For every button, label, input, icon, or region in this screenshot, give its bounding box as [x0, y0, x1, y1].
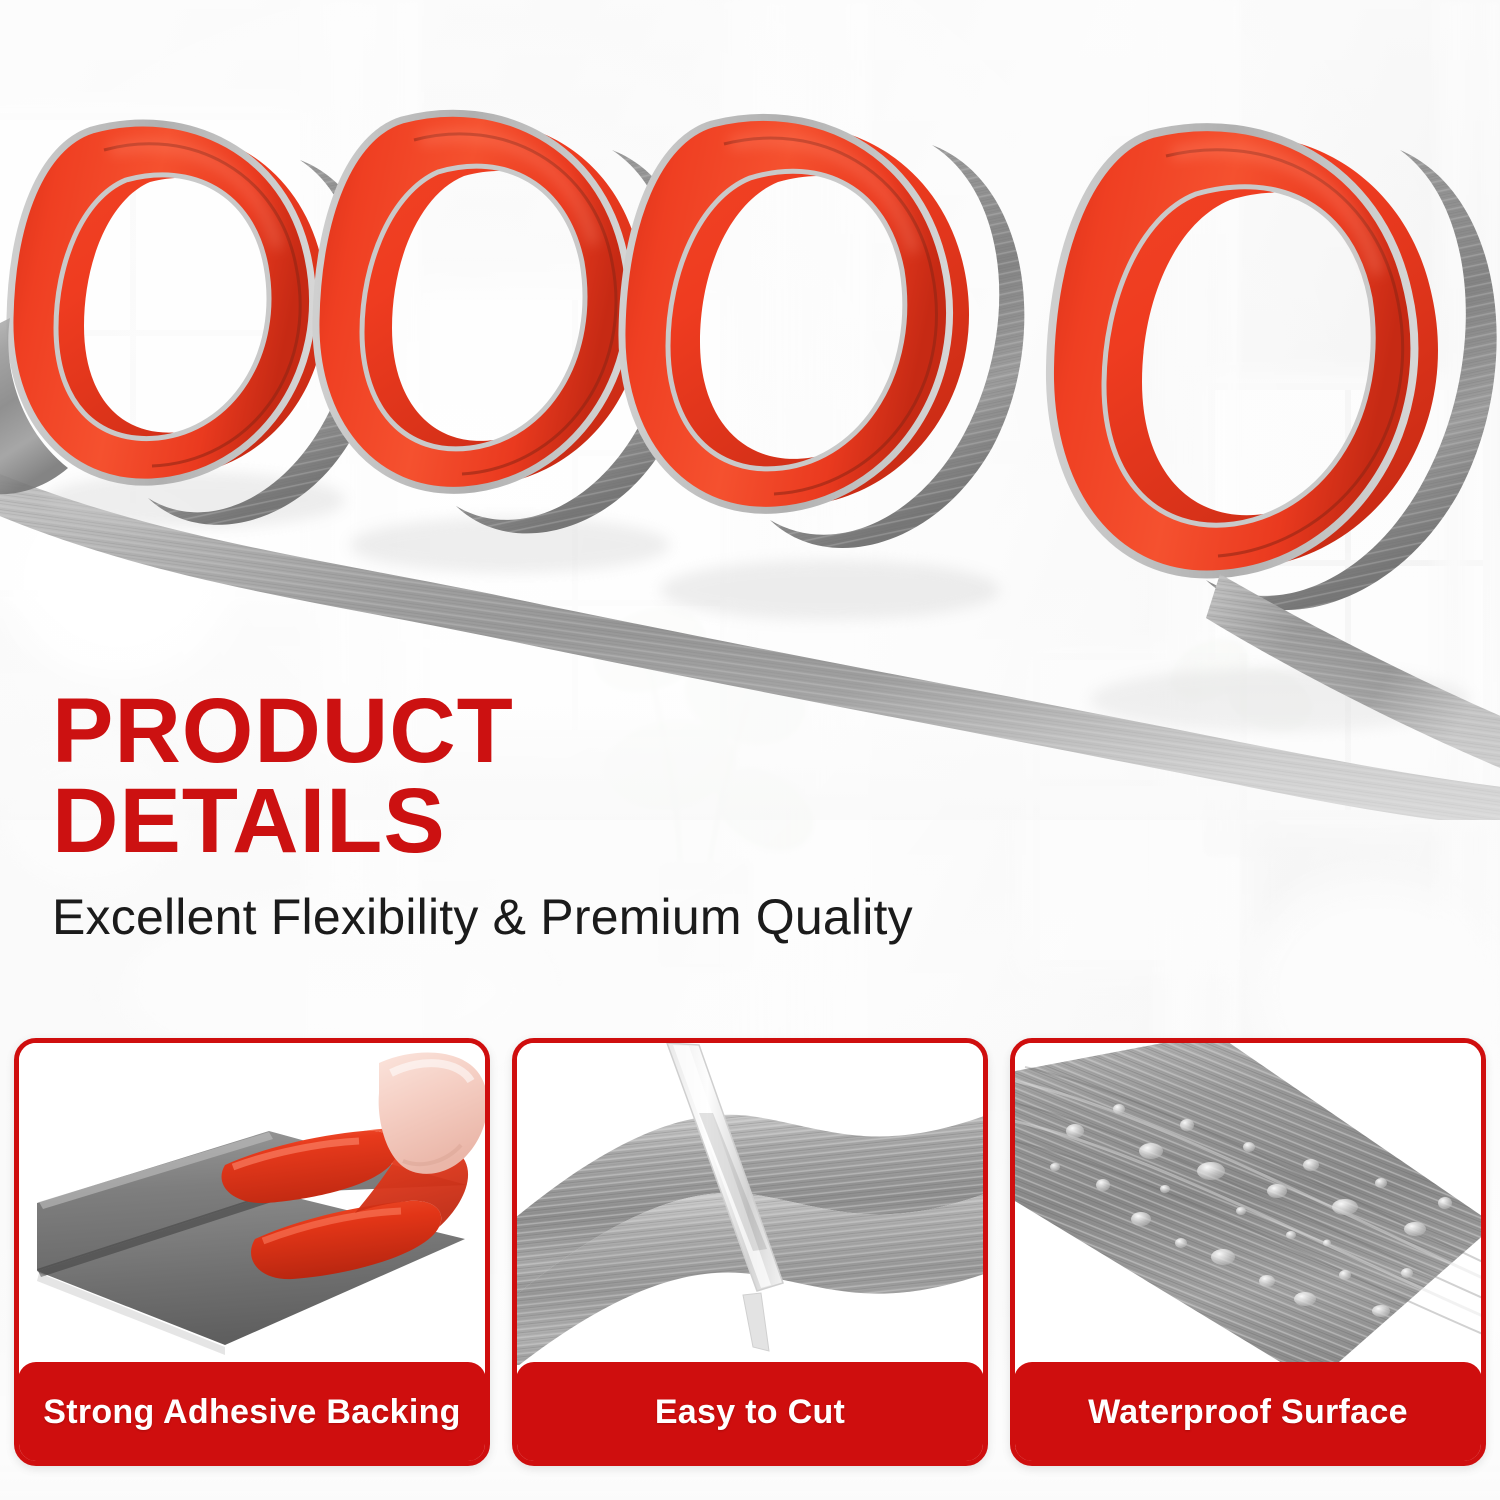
caption-bar-waterproof-surface: Waterproof Surface — [1014, 1362, 1482, 1462]
feature-panel-strong-adhesive-backing[interactable]: Strong Adhesive Backing — [14, 1038, 490, 1466]
feature-label-easy-to-cut: Easy to Cut — [655, 1393, 845, 1432]
caption-bar-easy-to-cut: Easy to Cut — [516, 1362, 984, 1462]
coil-3 — [622, 117, 1024, 620]
photo-waterproof-surface — [1015, 1043, 1481, 1365]
feature-panels: Strong Adhesive Backing — [0, 1038, 1500, 1466]
feature-panel-easy-to-cut[interactable]: Easy to Cut — [512, 1038, 988, 1466]
photo-strong-adhesive-backing — [19, 1043, 485, 1365]
caption-bar-strong-adhesive-backing: Strong Adhesive Backing — [18, 1362, 486, 1462]
page-title: PRODUCT DETAILS — [52, 686, 952, 866]
feature-label-strong-adhesive-backing: Strong Adhesive Backing — [43, 1393, 461, 1432]
feature-label-waterproof-surface: Waterproof Surface — [1088, 1393, 1408, 1432]
feature-panel-waterproof-surface[interactable]: Waterproof Surface — [1010, 1038, 1486, 1466]
product-detail-image: PRODUCT DETAILS Excellent Flexibility & … — [0, 0, 1500, 1500]
page-subtitle: Excellent Flexibility & Premium Quality — [52, 888, 952, 946]
headline-block: PRODUCT DETAILS Excellent Flexibility & … — [52, 686, 952, 946]
photo-easy-to-cut — [517, 1043, 983, 1365]
